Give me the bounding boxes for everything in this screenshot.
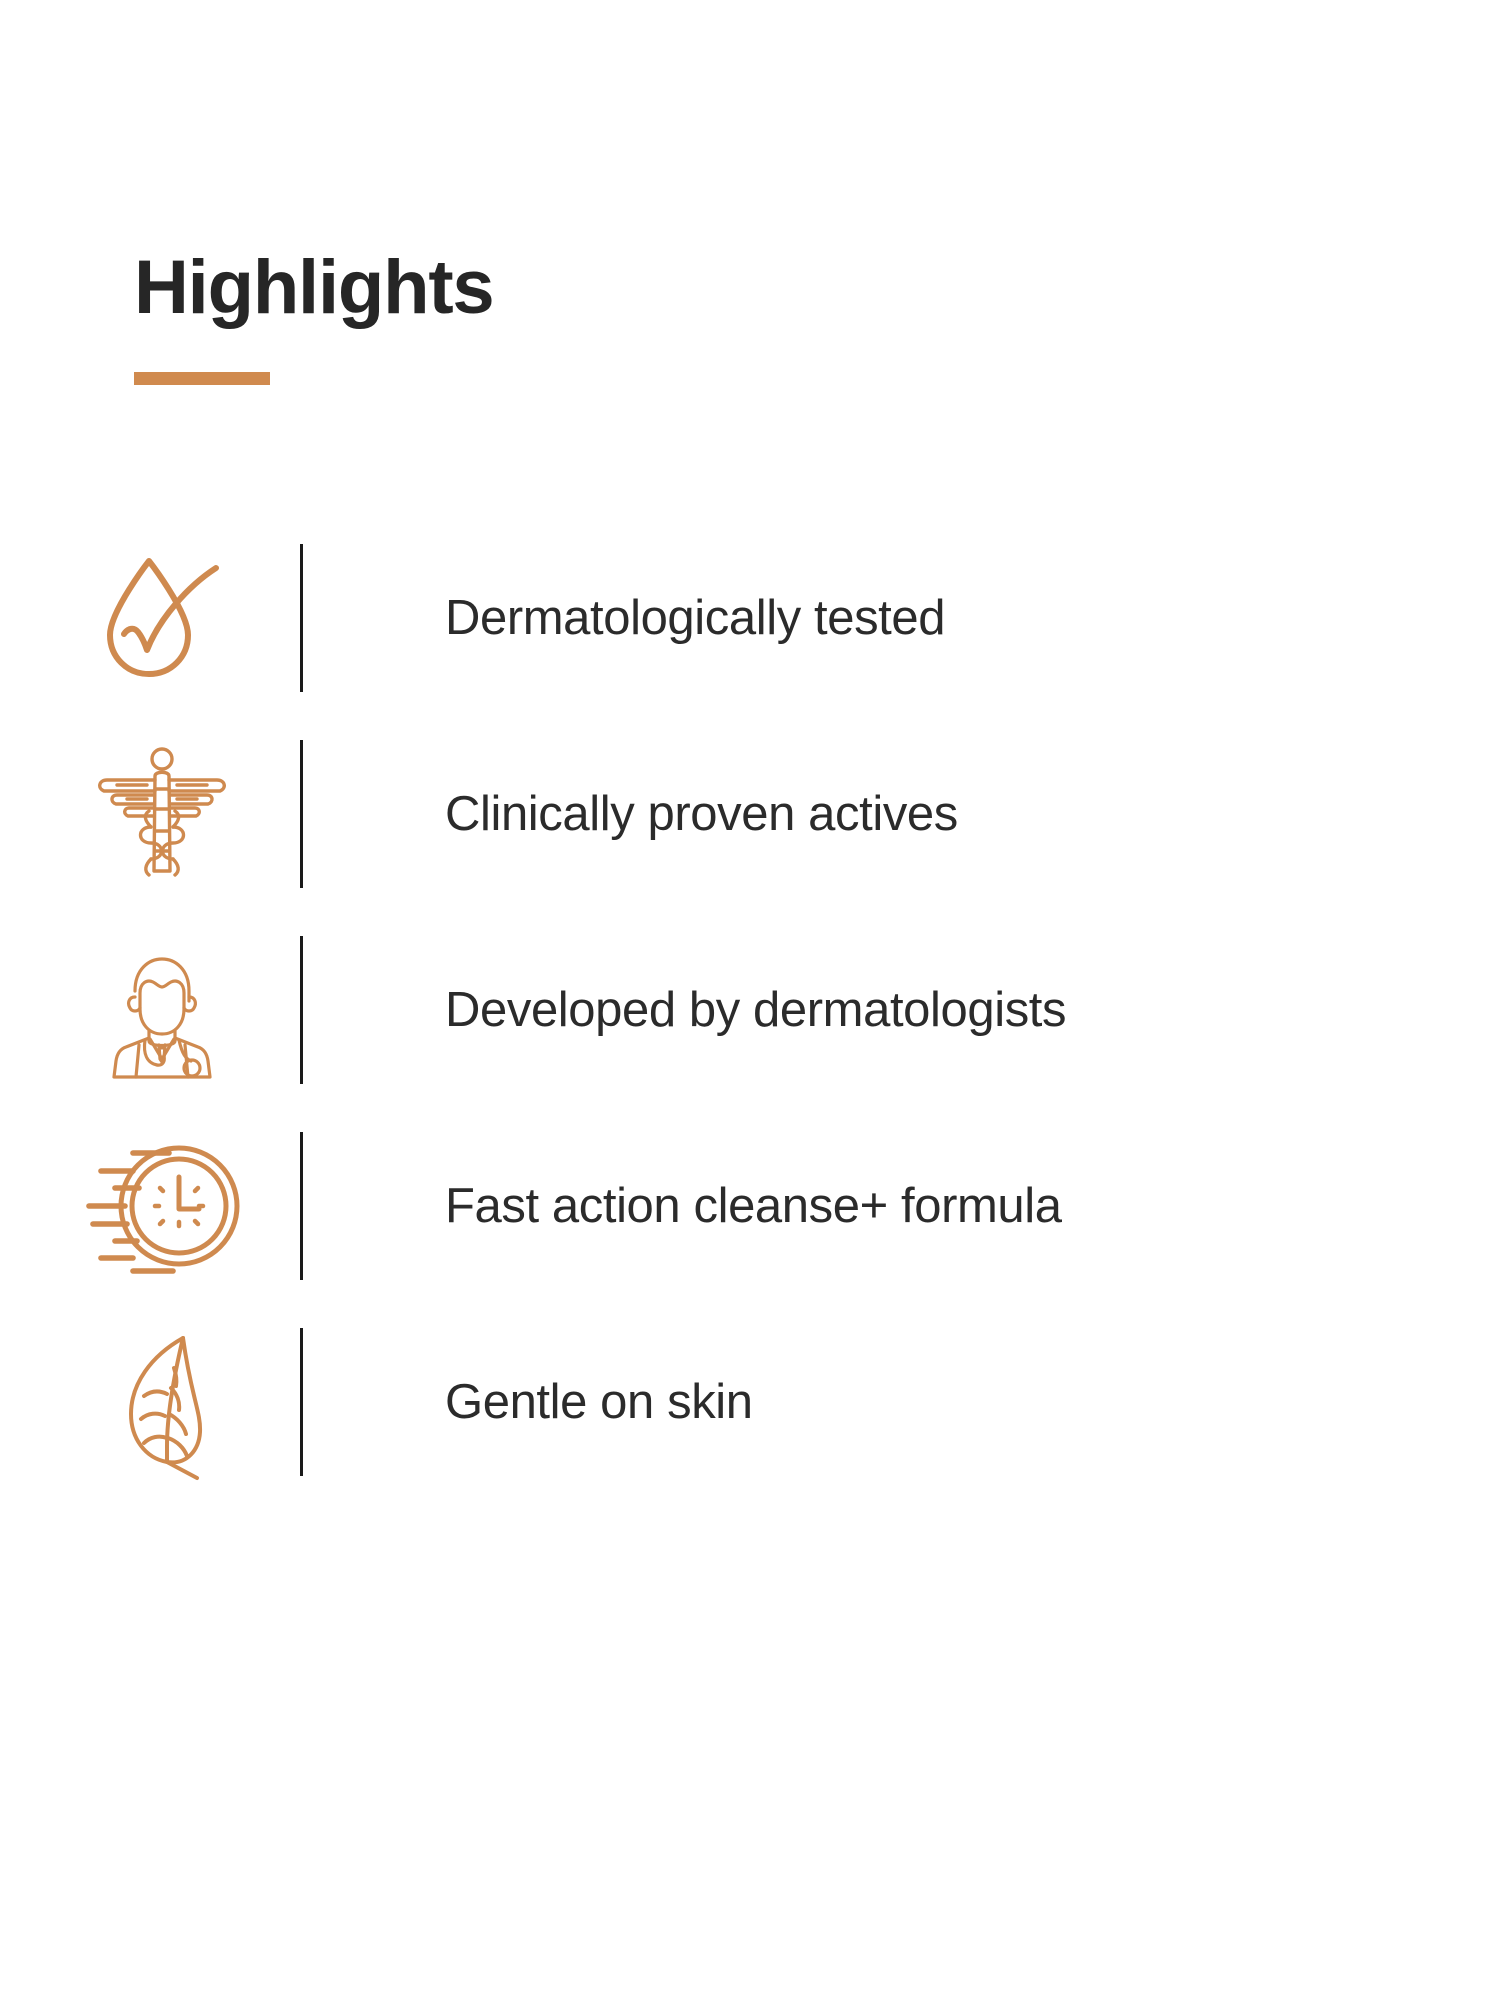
- row-divider: [300, 1328, 303, 1476]
- caduceus-icon: [87, 739, 237, 889]
- row-divider: [300, 740, 303, 888]
- list-item: Dermatologically tested: [0, 520, 1500, 716]
- water-drop-check-icon: [87, 543, 237, 693]
- divider-cell: [300, 740, 445, 888]
- dermatologist-doctor-icon: [87, 935, 237, 1085]
- highlights-list: Dermatologically tested: [0, 520, 1500, 1500]
- label-cell: Developed by dermatologists: [445, 982, 1500, 1038]
- divider-cell: [300, 936, 445, 1084]
- icon-cell: [0, 1131, 300, 1281]
- icon-cell: [0, 935, 300, 1085]
- list-item-label: Gentle on skin: [445, 1374, 753, 1430]
- label-cell: Clinically proven actives: [445, 786, 1500, 842]
- list-item: Clinically proven actives: [0, 716, 1500, 912]
- page-title: Highlights: [134, 250, 1034, 326]
- row-divider: [300, 544, 303, 692]
- label-cell: Dermatologically tested: [445, 590, 1500, 646]
- label-cell: Gentle on skin: [445, 1374, 1500, 1430]
- row-divider: [300, 1132, 303, 1280]
- row-divider: [300, 936, 303, 1084]
- icon-cell: [0, 739, 300, 889]
- list-item-label: Clinically proven actives: [445, 786, 958, 842]
- highlights-page: Highlights Dermatologically tested: [0, 0, 1500, 2000]
- list-item-label: Developed by dermatologists: [445, 982, 1066, 1038]
- header: Highlights: [134, 250, 1034, 385]
- list-item: Developed by dermatologists: [0, 912, 1500, 1108]
- list-item-label: Dermatologically tested: [445, 590, 945, 646]
- icon-cell: [0, 1322, 300, 1482]
- list-item: Fast action cleanse+ formula: [0, 1108, 1500, 1304]
- title-accent-underline: [134, 372, 270, 385]
- label-cell: Fast action cleanse+ formula: [445, 1178, 1500, 1234]
- divider-cell: [300, 1132, 445, 1280]
- list-item: Gentle on skin: [0, 1304, 1500, 1500]
- divider-cell: [300, 1328, 445, 1476]
- fast-clock-icon: [77, 1131, 247, 1281]
- divider-cell: [300, 544, 445, 692]
- icon-cell: [0, 543, 300, 693]
- list-item-label: Fast action cleanse+ formula: [445, 1178, 1062, 1234]
- feather-icon: [87, 1322, 237, 1482]
